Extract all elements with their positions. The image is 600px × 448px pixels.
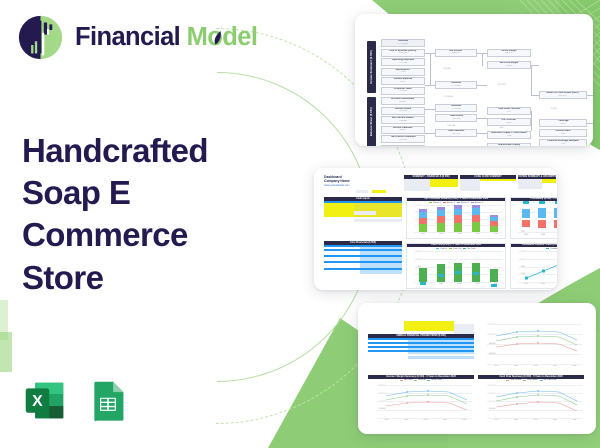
tree-inline-value: 1,714,800 (444, 95, 454, 98)
excel-icon[interactable]: X (22, 378, 67, 423)
tree-node: Non Current Assets218,940 (381, 116, 425, 124)
tree-node: Depreciation7,280 (381, 68, 425, 76)
tree-inline-value: 0.38 (499, 126, 503, 129)
dashboard-panel: VALUATION SUMMARY & ASSUMPTIONS (518, 175, 556, 193)
chart-ebitda-projection: 800,000600,000400,000200,000- (478, 321, 584, 373)
tree-node: Leverage1.62x (539, 119, 587, 127)
tree-node: Operating Expenses217,748 (381, 58, 425, 66)
chart-profitability: Profitability ($ 000) - 5 Years to Decem… (510, 197, 557, 239)
tree-node: Gross margin63.97% (487, 49, 531, 57)
brand-lockup: Financial Model (17, 14, 257, 61)
dashboard-website: www.yourwebsite.com (324, 184, 350, 187)
chart-x-axis-labels: 20222023 20242025 2026 (414, 233, 505, 235)
chart-income-margin-summary: 800,000600,000400,000200,000- (368, 384, 474, 428)
chart-title: Profitability ($ 000) - 5 Years to Decem… (511, 198, 557, 201)
tree-node: Revenue1,714,800 (435, 104, 477, 112)
chart-cumulative-payback: Cumulative Payback / Cash ($ 000) - 5 Ye… (510, 243, 557, 289)
chart-x-axis-labels: 20222023 20242025 2026 (377, 419, 474, 421)
reports-table-projections: ANNUAL FINANCIAL PROJECTIONS ($ 000) (368, 321, 474, 373)
tree-node: Current Liabilities96,987 (381, 126, 425, 134)
tree-node: Total Asset Turnover3.17 (487, 107, 531, 115)
tree-node: Total Liabilities207,297 (435, 129, 477, 137)
google-sheets-icon[interactable] (85, 378, 130, 423)
tree-node: Current Assets322,088 (381, 107, 425, 115)
brand-o-with-leaf: o (207, 25, 222, 51)
tree-node: Financial Leverage Multiplier1.62 (539, 139, 587, 146)
chart-legend: Cumulative Cash (511, 247, 557, 250)
tree-node: Total Assets541,028 (435, 114, 477, 122)
tree-node: A/R Turnover20.18 (487, 118, 531, 126)
chart-x-axis-labels: 20222023 20242025 2026 (518, 234, 557, 236)
chart-revenue-streams: Top 5 Revenue Streams ($ 000) - 5 Years … (406, 197, 506, 239)
tree-inline-value: 37.94% (443, 67, 450, 70)
brand-name-part2-pre: M (187, 23, 208, 51)
tree-node: Accounts Receivable84,980 (381, 97, 425, 105)
tree-node: Corporate Taxes213,016 (381, 87, 425, 95)
tree-node: Net Income650,591 (435, 49, 477, 57)
tree-inline-value: 120.25% (497, 83, 506, 86)
dashboard-title-block: Dashboard Company Name www.yourwebsite.c… (324, 176, 350, 187)
leaf-icon (211, 30, 223, 46)
dashboard-table-core-financials: Core Financials ($ 000) (324, 241, 402, 289)
dashboard-table-cash-inputs: Cash Inputs (324, 197, 402, 237)
chart-legend: Net Profit EBITDA Gross Profit (368, 379, 474, 382)
chart-legend: Cash In Cash Out Net Cash (407, 247, 505, 250)
dashboard-content: Dashboard Company Name www.yourwebsite.c… (320, 173, 551, 285)
dashboard-panel: CASH FLOW SUMMARY (460, 175, 516, 193)
tree-node: Net Profit Margin37.94% (487, 61, 531, 69)
tree-band-income-statement: Income Statement ($ 000) (367, 41, 376, 93)
ratio-tree-diagram: Income Statement ($ 000) Balance Sheet (… (361, 19, 587, 141)
file-format-icons: X (22, 378, 130, 423)
tree-node: Shareholders Equity333,731 (487, 143, 531, 146)
tree-node: Equity333,731 (381, 145, 425, 147)
excel-icon-letter: X (32, 393, 43, 410)
tree-node: Total Debt / Equity + Total Assets0.38 (487, 131, 531, 139)
chart-legend: Cash Outflow Cash Inflow Net Cash Flow (478, 379, 584, 382)
financial-model-logo-icon (17, 14, 64, 61)
tree-node: Revenue1,714,800 (381, 39, 425, 47)
tree-node: Current Ratio3.32 (539, 129, 587, 137)
tree-node: Interest Expense8,237 (381, 77, 425, 85)
chart-x-axis-labels: 20222023 20242025 2026 (518, 283, 557, 285)
dashboard-panel: SUMMARY - FINANCIALS ($ 000) (404, 175, 458, 193)
brand-name-part1: Financial (75, 23, 180, 51)
reports-screenshot[interactable]: ANNUAL FINANCIAL PROJECTIONS ($ 000) 800… (358, 303, 596, 434)
chart-cash-flow-summary: 800,000600,000400,000200,000- (478, 384, 584, 428)
tree-inline-value: 1.62x (551, 107, 556, 110)
tree-node: Revenue1,714,800 (435, 81, 477, 89)
page-title: Handcrafted Soap E Commerce Store (22, 130, 254, 299)
financial-ratio-tree-screenshot[interactable]: Income Statement ($ 000) Balance Sheet (… (355, 14, 593, 146)
brand-name-part2-post: del (222, 23, 257, 51)
reports-chart-header: Income / Margin Summary ($ 000) - 5 Year… (368, 375, 474, 382)
tree-node: Non Current Liabilities110,310 (381, 135, 425, 143)
chart-x-axis-labels: 20222023 20242025 2026 (487, 365, 584, 367)
tree-inline-value: 541,028 (447, 124, 455, 127)
tree-node: Cost of Revenue (COGS)617,928 (381, 49, 425, 57)
chart-x-axis-labels: 20222023 20242025 2026 (487, 419, 584, 421)
brand-name: Financial Model (75, 25, 257, 51)
tree-node: Return on Total Assets (ROA)120.25% (539, 91, 587, 99)
dashboard-screenshot[interactable]: Dashboard Company Name www.yourwebsite.c… (314, 168, 557, 290)
reports-content: ANNUAL FINANCIAL PROJECTIONS ($ 000) 800… (366, 313, 588, 428)
chart-cash-flow: Cash Flow ($ 000) - 5 Years to December … (406, 243, 506, 289)
chart-legend: Stream 1 Stream 2 Stream 3 Stream 4 (407, 201, 505, 204)
reports-chart-header: Cash Flow Summary ($ 000) - 5 Years to D… (478, 375, 584, 382)
tree-band-balance-sheet: Balance Sheet ($ 000) (367, 97, 376, 146)
